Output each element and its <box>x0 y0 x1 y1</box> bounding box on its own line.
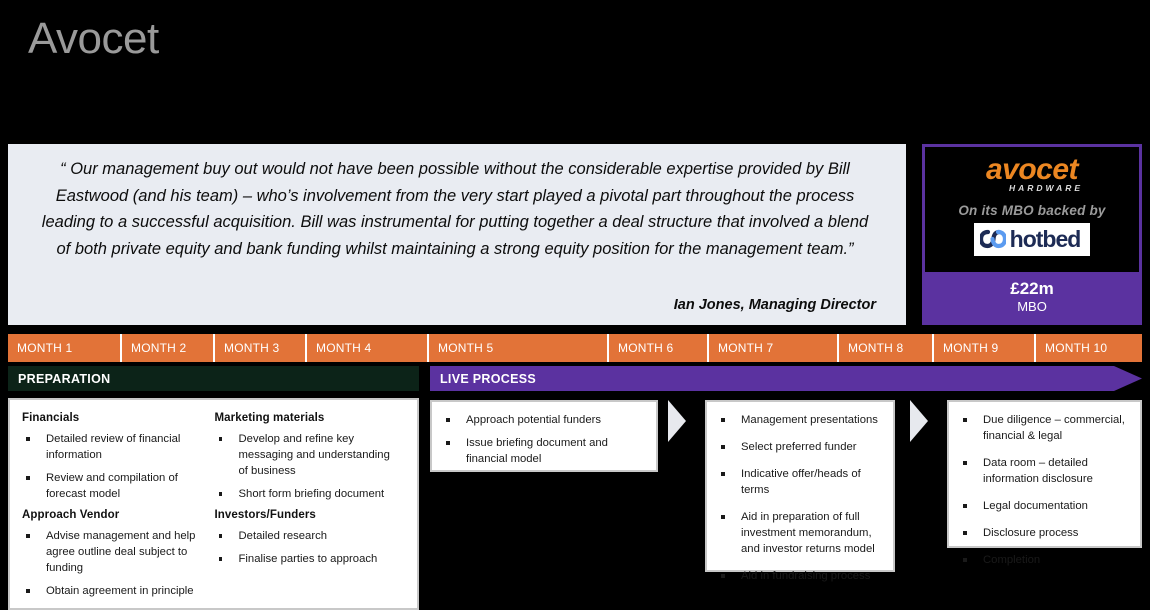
avocet-hardware-logo: avocet HARDWARE <box>981 155 1083 193</box>
list-item: Issue briefing document and financial mo… <box>442 435 648 467</box>
hotbed-infinity-icon <box>980 229 1006 249</box>
list-item: Finalise parties to approach <box>215 551 402 567</box>
timeline-month-cell: MONTH 4 <box>307 334 429 362</box>
live-process-box-1: Approach potential fundersIssue briefing… <box>430 400 658 472</box>
quote-attribution: Ian Jones, Managing Director <box>674 297 876 313</box>
list-item: Detailed research <box>215 528 402 544</box>
timeline-month-cell: MONTH 2 <box>122 334 215 362</box>
list-item: Review and compilation of forecast model <box>22 470 209 502</box>
bullet-list: Approach potential fundersIssue briefing… <box>442 412 648 467</box>
live-process-box-2: Management presentationsSelect preferred… <box>705 400 895 572</box>
list-item: Indicative offer/heads of terms <box>717 466 885 498</box>
list-item: Legal documentation <box>959 498 1132 514</box>
list-item: Develop and refine key messaging and und… <box>215 431 402 479</box>
section-heading: Marketing materials <box>215 412 402 424</box>
hotbed-logo: hotbed <box>974 223 1091 256</box>
phase-bar-live-process: LIVE PROCESS <box>430 366 1142 391</box>
arrow-connector-icon-2 <box>910 400 928 442</box>
deal-summary-card: avocet HARDWARE On its MBO backed by hot… <box>922 144 1142 325</box>
section-heading: Approach Vendor <box>22 509 209 521</box>
list-item: Short form briefing document <box>215 486 402 502</box>
list-item: Completion <box>959 552 1132 568</box>
avocet-logo-subtext: HARDWARE <box>1009 184 1083 193</box>
list-item: Advise management and help agree outline… <box>22 528 209 576</box>
page-title: Avocet <box>28 14 159 64</box>
list-item: Approach potential funders <box>442 412 648 428</box>
preparation-column: FinancialsDetailed review of financial i… <box>22 412 215 600</box>
bullet-list: Detailed review of financial information… <box>22 431 209 502</box>
deal-amount: £22m <box>1010 279 1053 299</box>
avocet-logo-wordmark: avocet <box>981 155 1083 185</box>
timeline-month-cell: MONTH 6 <box>609 334 709 362</box>
deal-card-value-area: £22m MBO <box>925 272 1139 322</box>
timeline-month-cell: MONTH 7 <box>709 334 839 362</box>
hotbed-wordmark: hotbed <box>1010 226 1081 253</box>
timeline-month-cell: MONTH 1 <box>8 334 122 362</box>
timeline-month-bar: MONTH 1MONTH 2MONTH 3MONTH 4MONTH 5MONTH… <box>8 334 1142 362</box>
list-item: Management presentations <box>717 412 885 428</box>
arrow-connector-icon-1 <box>668 400 686 442</box>
list-item: Aid in preparation of full investment me… <box>717 509 885 557</box>
list-item: Obtain agreement in principle <box>22 583 209 599</box>
list-item: Due diligence – commercial, financial & … <box>959 412 1132 444</box>
preparation-content-panel: FinancialsDetailed review of financial i… <box>8 398 419 610</box>
phase-bar-preparation: PREPARATION <box>8 366 419 391</box>
timeline-month-cell: MONTH 5 <box>429 334 609 362</box>
timeline-month-cell: MONTH 9 <box>934 334 1036 362</box>
section-heading: Financials <box>22 412 209 424</box>
timeline-month-cell: MONTH 8 <box>839 334 934 362</box>
live-process-box-3: Due diligence – commercial, financial & … <box>947 400 1142 548</box>
timeline-month-cell: MONTH 3 <box>215 334 307 362</box>
list-item: Detailed review of financial information <box>22 431 209 463</box>
backed-by-label: On its MBO backed by <box>958 203 1105 218</box>
deal-card-logo-area: avocet HARDWARE On its MBO backed by hot… <box>925 147 1139 272</box>
bullet-list: Advise management and help agree outline… <box>22 528 209 599</box>
quote-text: “ Our management buy out would not have … <box>34 156 876 263</box>
timeline-month-cell: MONTH 10 <box>1036 334 1142 362</box>
list-item: Select preferred funder <box>717 439 885 455</box>
bullet-list: Due diligence – commercial, financial & … <box>959 412 1132 568</box>
bullet-list: Develop and refine key messaging and und… <box>215 431 402 502</box>
list-item: Data room – detailed information disclos… <box>959 455 1132 487</box>
section-heading: Investors/Funders <box>215 509 402 521</box>
list-item: Aid in fundraising process <box>717 568 885 584</box>
testimonial-quote-panel: “ Our management buy out would not have … <box>8 144 906 325</box>
preparation-column: Marketing materialsDevelop and refine ke… <box>215 412 408 600</box>
bullet-list: Detailed researchFinalise parties to app… <box>215 528 402 567</box>
bullet-list: Management presentationsSelect preferred… <box>717 412 885 584</box>
deal-type: MBO <box>1017 299 1047 315</box>
list-item: Disclosure process <box>959 525 1132 541</box>
